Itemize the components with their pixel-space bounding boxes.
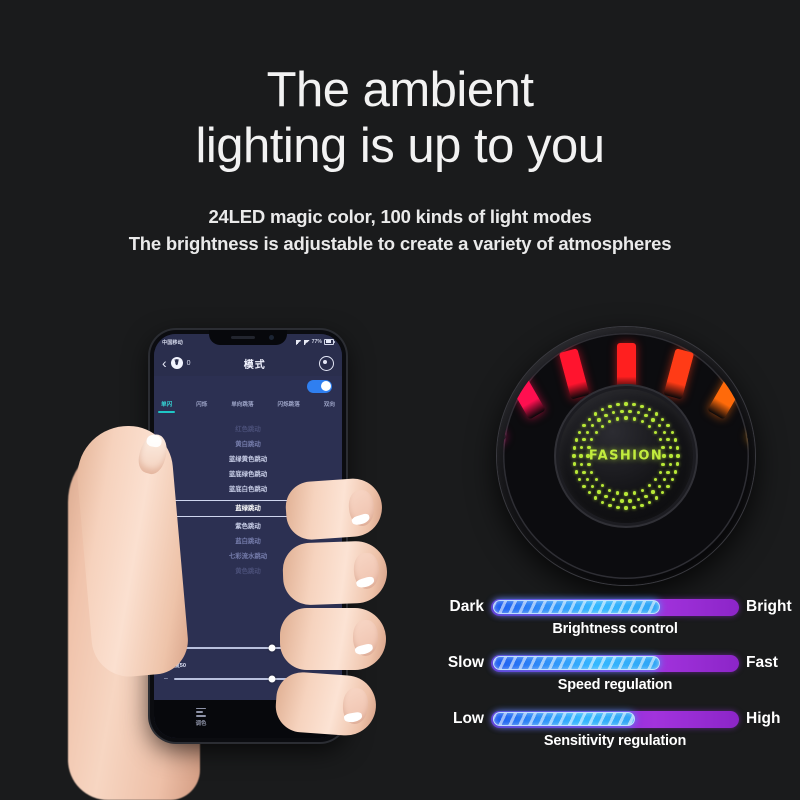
finger-nail — [353, 620, 378, 656]
led-dot — [669, 463, 672, 466]
led-dot — [661, 418, 664, 421]
led-segment — [617, 343, 636, 391]
led-dot — [580, 446, 583, 449]
led-dot — [588, 491, 591, 494]
led-dot — [648, 425, 651, 428]
sensitivity-slider-knob[interactable] — [268, 675, 275, 682]
led-dot — [628, 410, 631, 413]
sensitivity-slider-line: Low High — [440, 710, 790, 728]
brightness-max-label: Bright — [746, 598, 790, 616]
slider-legend-group: Dark Bright Brightness control Slow Fast… — [440, 598, 790, 766]
led-dot — [671, 478, 674, 481]
battery-percent-label: 77% — [312, 339, 322, 345]
speed-max-label: Fast — [746, 654, 790, 672]
speed-min-label: Slow — [440, 654, 484, 672]
led-dot — [651, 490, 654, 493]
led-dot — [608, 489, 611, 492]
device-count-label: 0 — [187, 360, 191, 367]
led-dot — [579, 454, 582, 457]
led-dot — [582, 438, 585, 441]
led-dot — [669, 446, 672, 449]
led-dot — [616, 403, 619, 406]
led-dot — [608, 405, 611, 408]
phone-notch — [209, 330, 287, 345]
brightness-min-label: Dark — [440, 598, 484, 616]
led-dot — [620, 410, 623, 413]
brightness-slider-line: Dark Bright — [440, 598, 790, 616]
led-dot — [591, 485, 594, 488]
led-dot — [632, 403, 635, 406]
list-item[interactable]: 蓝绿黄色跳动 — [154, 453, 342, 467]
signal-icon — [296, 340, 302, 345]
tab-shuangxiang[interactable]: 双向 — [324, 400, 335, 413]
sensitivity-min-label: Low — [440, 710, 484, 728]
power-toggle-row — [154, 376, 342, 396]
led-dot — [578, 431, 581, 434]
led-dot — [641, 489, 644, 492]
led-segment — [707, 369, 747, 420]
rgb-light-device: FASHION — [497, 327, 755, 585]
led-dot — [640, 405, 643, 408]
led-dot — [661, 491, 664, 494]
mode-tabs: 单闪 闪烁 单向跳落 闪烁跳落 双向 — [154, 396, 342, 416]
speed-slider-fill — [493, 656, 661, 670]
led-dot — [637, 498, 640, 501]
power-toggle[interactable] — [307, 380, 332, 393]
led-dot — [655, 496, 658, 499]
promo-poster: The ambient lighting is up to you 24LED … — [0, 0, 800, 800]
led-segment — [505, 369, 545, 420]
led-dot — [666, 471, 669, 474]
sensitivity-slider-row: Low High Sensitivity regulation — [440, 710, 790, 766]
index-finger — [284, 477, 384, 542]
led-dot — [616, 491, 619, 494]
list-item[interactable]: 蓝底绿色跳动 — [154, 468, 342, 482]
brightness-caption: Brightness control — [440, 621, 790, 637]
led-dot — [674, 438, 677, 441]
led-dot — [616, 506, 619, 509]
led-dot — [676, 446, 679, 449]
tab-danshan[interactable]: 单闪 — [161, 400, 172, 413]
list-icon — [196, 708, 206, 717]
finger-nail — [348, 489, 375, 527]
led-dot — [628, 499, 631, 502]
led-dot — [608, 420, 611, 423]
led-dot — [666, 424, 669, 427]
led-dot — [663, 431, 666, 434]
brand-label: FASHION — [589, 449, 663, 464]
list-item[interactable]: 黄白跳动 — [154, 438, 342, 452]
led-dot — [651, 418, 654, 421]
subtitle-line-2: The brightness is adjustable to create a… — [0, 233, 800, 255]
led-dot — [582, 485, 585, 488]
led-dot — [674, 470, 677, 473]
led-dot — [658, 424, 661, 427]
tab-shanshuo[interactable]: 闪烁 — [196, 400, 207, 413]
led-dot — [633, 491, 636, 494]
page-title: The ambient lighting is up to you — [0, 62, 800, 174]
led-dot — [582, 424, 585, 427]
carrier-label: 中国移动 — [162, 339, 183, 346]
speed-slider-row: Slow Fast Speed regulation — [440, 654, 790, 710]
led-dot — [632, 506, 635, 509]
led-dot — [586, 478, 589, 481]
led-dot — [597, 418, 600, 421]
led-dot — [659, 438, 662, 441]
led-dot — [644, 414, 647, 417]
led-dot — [582, 471, 585, 474]
led-dot — [648, 501, 651, 504]
led-dot — [644, 495, 647, 498]
led-dot — [624, 492, 627, 495]
app-bar-title: 模式 — [195, 356, 315, 371]
led-dot — [654, 478, 657, 481]
tab-shanshuotiaoluo[interactable]: 闪烁跳落 — [277, 400, 299, 413]
sensitivity-max-label: High — [746, 710, 790, 728]
led-dot — [640, 504, 643, 507]
led-dot — [624, 416, 627, 419]
finger-nail — [353, 552, 379, 589]
led-dot — [597, 490, 600, 493]
hand-holding-phone: 中国移动 77% ‹ ☤ 0 模式 — [78, 330, 428, 800]
led-dot — [669, 454, 672, 457]
led-dot — [654, 431, 657, 434]
led-dot — [575, 470, 578, 473]
nav-item-color-label: 调色 — [196, 719, 207, 727]
speed-slider-line: Slow Fast — [440, 654, 790, 672]
led-dot — [655, 412, 658, 415]
gear-icon[interactable] — [319, 356, 334, 371]
earpiece-speaker — [231, 336, 255, 339]
led-dot — [663, 478, 666, 481]
led-dot — [616, 417, 619, 420]
list-item[interactable]: 红色跳动 — [154, 423, 342, 437]
sensitivity-slider-fill — [493, 712, 636, 726]
brightness-slider-row: Dark Bright Brightness control — [440, 598, 790, 654]
signal-icon-2 — [304, 340, 310, 345]
led-dot — [578, 478, 581, 481]
speed-slider[interactable] — [491, 655, 739, 672]
led-dot — [608, 504, 611, 507]
led-dot — [575, 438, 578, 441]
led-dot — [601, 484, 604, 487]
status-bar-right: 77% — [296, 339, 334, 346]
brightness-slider[interactable] — [491, 599, 739, 616]
led-dot — [648, 484, 651, 487]
led-dot — [620, 499, 623, 502]
nav-item-color[interactable]: 调色 — [196, 708, 207, 727]
finger-nail — [342, 687, 369, 725]
led-dot — [624, 402, 627, 405]
led-dot — [601, 408, 604, 411]
led-dot — [637, 411, 640, 414]
sensitivity-caption: Sensitivity regulation — [440, 733, 790, 749]
led-dot — [604, 414, 607, 417]
led-dot — [590, 471, 593, 474]
led-dot — [591, 424, 594, 427]
led-dot — [594, 496, 597, 499]
led-dot — [601, 425, 604, 428]
led-dot — [666, 438, 669, 441]
minus-icon[interactable]: – — [163, 675, 169, 682]
led-dot — [573, 446, 576, 449]
chevron-left-icon[interactable]: ‹ — [162, 356, 167, 370]
speed-caption: Speed regulation — [440, 677, 790, 693]
led-dot — [676, 462, 679, 465]
led-dot — [612, 498, 615, 501]
speed-slider-knob[interactable] — [268, 644, 275, 651]
led-dot — [633, 417, 636, 420]
front-camera — [269, 335, 274, 340]
led-dot — [595, 478, 598, 481]
led-dot — [580, 463, 583, 466]
led-dot — [604, 495, 607, 498]
headline-line-2: lighting is up to you — [0, 118, 800, 174]
bluetooth-icon[interactable]: ☤ — [171, 357, 183, 369]
ring-finger — [280, 608, 386, 670]
led-dot — [671, 431, 674, 434]
led-dot — [586, 431, 589, 434]
led-dot — [588, 418, 591, 421]
led-dot — [572, 454, 575, 457]
led-dot — [659, 471, 662, 474]
app-bar: ‹ ☤ 0 模式 — [154, 350, 342, 376]
battery-icon — [324, 339, 334, 346]
sensitivity-slider[interactable] — [491, 711, 739, 728]
led-dot — [676, 454, 679, 457]
led-dot — [666, 485, 669, 488]
led-dot — [573, 462, 576, 465]
led-dot — [595, 431, 598, 434]
little-finger — [274, 671, 378, 738]
led-segment — [745, 402, 749, 449]
led-segment — [503, 402, 507, 449]
led-dot — [612, 411, 615, 414]
subtitle-line-1: 24LED magic color, 100 kinds of light mo… — [0, 206, 800, 228]
led-dot — [601, 501, 604, 504]
led-dot — [641, 420, 644, 423]
device-hub: FASHION — [559, 389, 693, 523]
status-bar-left: 中国移动 — [162, 339, 183, 346]
tab-danxiangtiaoluo[interactable]: 单向跳落 — [231, 400, 253, 413]
led-dot — [648, 408, 651, 411]
led-dot — [590, 438, 593, 441]
headline-line-1: The ambient — [0, 62, 800, 118]
brightness-slider-fill — [493, 600, 661, 614]
led-dot — [594, 412, 597, 415]
led-dot — [624, 506, 627, 509]
led-dot — [658, 485, 661, 488]
middle-finger — [282, 540, 388, 606]
